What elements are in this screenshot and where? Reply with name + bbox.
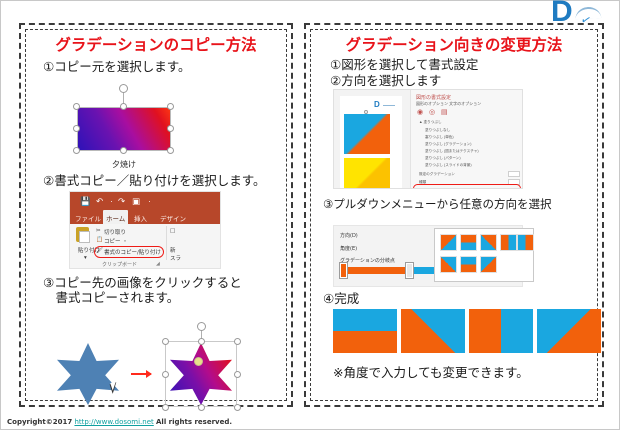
adjust-handle-icon[interactable] (194, 357, 203, 366)
fill-option-0[interactable]: 塗りつぶしなし (425, 128, 450, 133)
gradient-rectangle-shape[interactable] (71, 101, 177, 157)
result-shape-2 (401, 309, 465, 353)
preset-gradient-field[interactable] (508, 171, 520, 177)
slide-logo-line (383, 105, 395, 106)
direction-swatch-2[interactable] (460, 234, 477, 251)
selection-box (77, 107, 171, 151)
format-pane-title: 図形の書式設定 (416, 94, 451, 101)
t-handle-middle-right[interactable] (234, 371, 241, 378)
save-icon[interactable]: 💾 (80, 196, 91, 207)
left-panel-title: グラデーションのコピー方法 (21, 33, 291, 55)
tab-file[interactable]: ファイル (75, 213, 101, 223)
handle-bottom-center[interactable] (120, 147, 127, 154)
direction-dropdown-screenshot: 方向(D) 角度(E) グラデーションの分岐点 (333, 225, 523, 287)
fill-icon[interactable]: ◉ (417, 108, 423, 116)
right-panel-title: グラデーション向きの変更方法 (306, 33, 602, 55)
handle-bottom-left[interactable] (73, 147, 80, 154)
direction-label: 方向(D) (340, 232, 358, 239)
rotate-handle-icon[interactable] (119, 84, 128, 93)
direction-swatch-8[interactable] (480, 256, 497, 273)
angle-label: 角度(E) (340, 245, 357, 252)
scissors-icon[interactable]: ✂ (96, 228, 101, 234)
format-shape-pane-screenshot: D 図形の書式設定 図形のオプション 文字のオプション ◉ ◎ ▤ ▲ 塗りつぶ… (333, 89, 523, 189)
right-step-2-text: ②方向を選択します (330, 73, 441, 89)
qat-more-icon[interactable]: · (148, 196, 151, 206)
slide-shape-rotate-handle[interactable] (364, 110, 368, 114)
t-handle-top-center[interactable] (198, 338, 205, 345)
handle-middle-left[interactable] (73, 125, 80, 132)
fill-option-4[interactable]: 塗りつぶし (パターン) (425, 156, 461, 161)
direction-swatch-5[interactable] (517, 234, 534, 251)
fill-option-2[interactable]: 塗りつぶし (グラデーション) (425, 142, 471, 147)
direction-swatch-1[interactable] (440, 234, 457, 251)
clipboard-group-label: クリップボード (102, 261, 137, 268)
left-step-3-line2: 書式コピーされます。 (43, 290, 179, 306)
paste-dropdown-icon[interactable]: ▾ (84, 255, 87, 261)
gradient-stops-slider-fill (340, 267, 412, 274)
right-step-4-text: ④完成 (323, 291, 359, 307)
format-pane-subtitle: 図形のオプション 文字のオプション (416, 101, 481, 107)
gradient-stop-1[interactable] (340, 263, 347, 278)
undo-dropdown-icon[interactable]: · (110, 196, 113, 206)
quick-access-toolbar: 💾 ↶ · ↷ ▣ · (70, 192, 221, 210)
footer-copyright: Copyright©2017 http://www.dosomi.net All… (7, 418, 232, 426)
direction-field-highlight (413, 184, 521, 189)
t-handle-middle-left[interactable] (162, 371, 169, 378)
target-star-selection[interactable] (161, 337, 241, 409)
slide-shape-yellow[interactable] (344, 158, 390, 189)
right-note-text: ※角度で入力しても変更できます。 (333, 365, 529, 381)
new-slide-label-1[interactable]: 新 (170, 246, 176, 254)
copy-label[interactable]: コピー ・ (104, 237, 128, 245)
effects-icon[interactable]: ◎ (429, 108, 435, 116)
size-icon[interactable]: ▤ (441, 108, 448, 116)
handle-top-right[interactable] (167, 103, 174, 110)
direction-swatch-6[interactable] (440, 256, 457, 273)
left-step-3-line1: ③コピー先の画像をクリックすると (43, 275, 242, 291)
direction-swatch-3[interactable] (480, 234, 497, 251)
direction-swatch-panel (434, 228, 534, 282)
poster-page: D ✓ グラデーションのコピー方法 ①コピー元を選択します。 夕焼け ②書式コピ… (0, 0, 620, 430)
handle-top-left[interactable] (73, 103, 80, 110)
cut-label[interactable]: 切り取り (104, 228, 126, 236)
target-rotate-handle-icon[interactable] (197, 322, 206, 331)
paste-sheet-icon (79, 231, 90, 243)
powerpoint-ribbon-screenshot: 💾 ↶ · ↷ ▣ · ファイル ホーム 挿入 デザイン ✂ 切り取り (69, 191, 221, 269)
ribbon-separator (166, 226, 167, 260)
slide-thumbnail: D (340, 96, 402, 188)
new-slide-label-2[interactable]: スラ (170, 254, 181, 262)
new-slide-icon[interactable]: □ (170, 228, 175, 234)
result-shape-3 (469, 309, 533, 353)
t-handle-top-right[interactable] (234, 338, 241, 345)
result-shape-4 (537, 309, 601, 353)
handle-top-center[interactable] (120, 103, 127, 110)
flow-arrow-icon (131, 373, 151, 375)
fill-option-3[interactable]: 塗りつぶし (図またはテクスチャ) (425, 149, 479, 154)
shape-caption: 夕焼け (71, 159, 177, 170)
t-handle-bottom-left[interactable] (162, 404, 169, 411)
gradient-stop-2[interactable] (406, 263, 413, 278)
site-url-link[interactable]: http://www.dosomi.net (74, 418, 153, 426)
undo-icon[interactable]: ↶ (96, 196, 103, 207)
copy-icon[interactable]: 📋 (96, 237, 103, 243)
rights-text: All rights reserved. (156, 418, 232, 426)
slide-logo-icon: D (374, 100, 380, 109)
t-handle-bottom-right[interactable] (234, 404, 241, 411)
slide-shape-blue-orange[interactable] (344, 114, 390, 154)
right-step-1-text: ①図形を選択して書式設定 (330, 57, 478, 73)
direction-swatch-7[interactable] (460, 256, 477, 273)
fill-section-label[interactable]: ▲ 塗りつぶし (419, 120, 442, 125)
target-selection-box (165, 341, 237, 407)
ribbon-tab-bar: ファイル ホーム 挿入 デザイン (70, 210, 221, 224)
fill-option-5[interactable]: 塗りつぶし (スライドの背景) (425, 163, 472, 168)
left-step-1-text: ①コピー元を選択します。 (43, 59, 190, 75)
handle-bottom-right[interactable] (167, 147, 174, 154)
gradient-stops-label: グラデーションの分岐点 (340, 257, 395, 264)
t-handle-bottom-center[interactable] (198, 404, 205, 411)
format-painter-highlight (94, 246, 164, 258)
result-shape-1 (333, 309, 397, 353)
handle-middle-right[interactable] (167, 125, 174, 132)
tab-insert[interactable]: 挿入 (134, 213, 147, 223)
fill-option-1[interactable]: 塞りつぶし (単色) (425, 135, 454, 140)
format-pane: 図形の書式設定 図形のオプション 文字のオプション ◉ ◎ ▤ ▲ 塗りつぶし … (410, 90, 523, 189)
slideshow-icon[interactable]: ▣ (132, 196, 140, 207)
preset-gradient-label: 既定のグラデーション (419, 172, 455, 177)
tab-design[interactable]: デザイン (160, 213, 186, 223)
left-step-2-text: ②書式コピー／貼り付けを選択します。 (43, 173, 265, 189)
copyright-text: Copyright©2017 (7, 418, 72, 426)
direction-swatch-4[interactable] (500, 234, 517, 251)
right-step-3-text: ③プルダウンメニューから任意の方向を選択 (323, 197, 551, 211)
left-panel: グラデーションのコピー方法 ①コピー元を選択します。 夕焼け ②書式コピー／貼り… (19, 23, 293, 407)
clipboard-dialog-launcher-icon[interactable]: ◢ (156, 261, 160, 267)
t-handle-top-left[interactable] (162, 338, 169, 345)
redo-icon[interactable]: ↷ (118, 196, 125, 207)
